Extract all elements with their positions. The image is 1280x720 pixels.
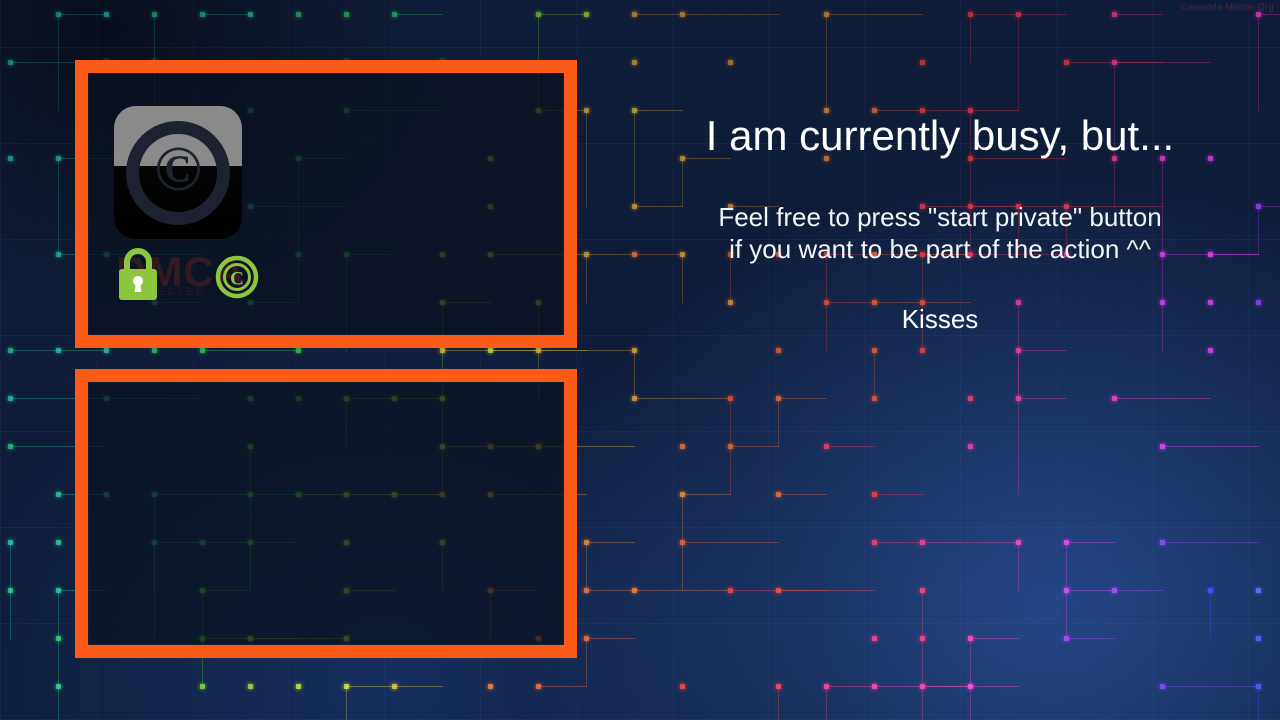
video-panel-top[interactable]: © DMCA PROTECTED C xyxy=(75,60,577,348)
network-node-dot xyxy=(56,348,61,353)
network-link xyxy=(586,255,587,303)
network-link xyxy=(586,111,587,207)
network-link xyxy=(875,110,923,111)
video-panel-bottom-surface xyxy=(88,382,564,645)
network-node-dot xyxy=(296,348,301,353)
video-panel-bottom[interactable] xyxy=(75,369,577,658)
network-link xyxy=(778,399,779,447)
network-link xyxy=(634,111,635,207)
network-link xyxy=(59,14,107,15)
network-link xyxy=(58,639,59,720)
network-link xyxy=(347,686,395,687)
network-link xyxy=(922,591,923,639)
network-node-dot xyxy=(56,684,61,689)
network-link xyxy=(395,14,443,15)
network-link xyxy=(346,687,347,720)
network-link xyxy=(586,639,587,687)
network-link xyxy=(1115,14,1163,15)
network-link xyxy=(1067,638,1115,639)
network-link xyxy=(1258,15,1259,111)
network-link xyxy=(58,591,59,639)
network-link xyxy=(1163,446,1259,447)
network-node-dot xyxy=(920,60,925,65)
body-line-1: Feel free to press "start private" butto… xyxy=(640,201,1240,233)
network-node-dot xyxy=(200,684,205,689)
network-link xyxy=(1163,542,1259,543)
network-link xyxy=(587,542,635,543)
network-link xyxy=(635,398,731,399)
network-link xyxy=(58,159,59,255)
signoff-text: Kisses xyxy=(640,303,1240,335)
network-node-dot xyxy=(8,588,13,593)
network-link xyxy=(587,590,635,591)
network-node-dot xyxy=(104,12,109,17)
network-link xyxy=(1115,398,1211,399)
network-link xyxy=(635,590,731,591)
network-link xyxy=(922,639,923,720)
network-link xyxy=(1210,591,1211,639)
body-text: Feel free to press "start private" butto… xyxy=(640,201,1240,265)
network-node-dot xyxy=(872,396,877,401)
network-link xyxy=(875,542,923,543)
network-node-dot xyxy=(1256,636,1261,641)
network-node-dot xyxy=(968,396,973,401)
network-link xyxy=(874,351,875,399)
network-link xyxy=(683,542,779,543)
network-node-dot xyxy=(872,636,877,641)
network-node-dot xyxy=(488,684,493,689)
network-link xyxy=(970,15,971,63)
network-node-dot xyxy=(968,684,973,689)
video-panel-top-surface: © DMCA PROTECTED C xyxy=(88,73,564,335)
network-node-dot xyxy=(968,444,973,449)
network-link xyxy=(1163,686,1259,687)
network-link xyxy=(587,254,635,255)
network-link xyxy=(203,350,299,351)
network-link xyxy=(1067,590,1115,591)
network-node-dot xyxy=(776,348,781,353)
network-node-dot xyxy=(584,12,589,17)
network-link xyxy=(683,14,779,15)
network-link xyxy=(1115,62,1211,63)
network-node-dot xyxy=(1208,348,1213,353)
network-node-dot xyxy=(56,540,61,545)
network-link xyxy=(1018,15,1019,111)
network-link xyxy=(827,446,875,447)
screen-root: © DMCA PROTECTED C xyxy=(0,0,1280,720)
network-link xyxy=(731,446,779,447)
network-link xyxy=(1259,14,1280,15)
network-link xyxy=(539,686,587,687)
network-link xyxy=(1019,398,1067,399)
network-link xyxy=(1018,543,1019,591)
network-link xyxy=(1067,542,1115,543)
network-link xyxy=(826,15,827,111)
body-line-2: if you want to be part of the action ^^ xyxy=(640,233,1240,265)
network-link xyxy=(1018,399,1019,495)
network-link xyxy=(587,638,635,639)
network-link xyxy=(971,14,1019,15)
network-link xyxy=(971,638,1019,639)
network-node-dot xyxy=(680,444,685,449)
network-link xyxy=(779,494,827,495)
network-node-dot xyxy=(632,60,637,65)
network-link xyxy=(827,14,923,15)
network-node-dot xyxy=(1256,588,1261,593)
network-link xyxy=(827,686,875,687)
network-link xyxy=(58,15,59,111)
network-node-dot xyxy=(8,156,13,161)
network-link xyxy=(1258,687,1259,720)
copyright-circle-icon: C xyxy=(214,254,260,300)
network-link xyxy=(586,543,587,591)
network-link xyxy=(1259,206,1280,207)
network-link xyxy=(970,639,971,720)
network-node-dot xyxy=(728,60,733,65)
network-link xyxy=(826,687,827,720)
network-link xyxy=(779,398,827,399)
padlock-icon xyxy=(117,246,159,302)
network-node-dot xyxy=(248,12,253,17)
network-link xyxy=(395,686,443,687)
headline-text: I am currently busy, but... xyxy=(640,112,1240,159)
network-node-dot xyxy=(296,12,301,17)
network-link xyxy=(923,542,1019,543)
corner-watermark: Camsoda Motion Org xyxy=(1181,2,1274,12)
dmca-badge: © DMCA PROTECTED C xyxy=(114,106,334,331)
network-node-dot xyxy=(248,684,253,689)
network-link xyxy=(1019,14,1067,15)
network-node-dot xyxy=(680,684,685,689)
network-node-dot xyxy=(344,12,349,17)
network-link xyxy=(539,14,587,15)
network-link xyxy=(778,687,779,720)
network-node-dot xyxy=(152,348,157,353)
copyright-symbol-large: © xyxy=(126,121,230,225)
watermark-text: Camsoda Motion Org xyxy=(1181,2,1274,12)
network-link xyxy=(1019,350,1067,351)
network-link xyxy=(1018,351,1019,399)
network-link xyxy=(875,494,923,495)
network-node-dot xyxy=(104,348,109,353)
copyright-tile-icon: © xyxy=(114,106,242,239)
copyright-glyph-text: © xyxy=(154,137,202,201)
network-link xyxy=(779,590,875,591)
network-link xyxy=(1115,590,1163,591)
network-node-dot xyxy=(296,684,301,689)
network-node-dot xyxy=(920,348,925,353)
network-link xyxy=(1258,207,1259,255)
network-link xyxy=(683,494,731,495)
network-node-dot xyxy=(1256,300,1261,305)
network-link xyxy=(634,351,635,399)
status-message-block: I am currently busy, but... Feel free to… xyxy=(640,112,1240,335)
network-link xyxy=(635,14,683,15)
network-link xyxy=(539,350,635,351)
network-link xyxy=(203,14,251,15)
network-link xyxy=(635,110,683,111)
svg-text:C: C xyxy=(230,269,244,290)
